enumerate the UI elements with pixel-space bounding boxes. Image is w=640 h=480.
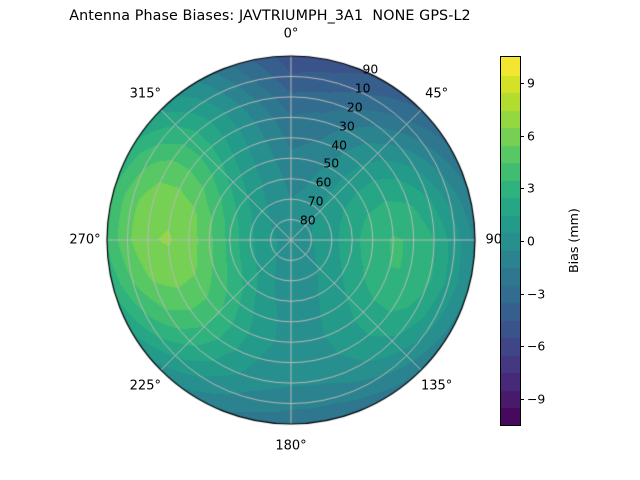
colorbar-tickmark [520, 83, 524, 84]
colorbar-tick-label: −6 [527, 339, 545, 354]
colorbar-tickmark [520, 294, 524, 295]
colorbar-tick-label: 0 [527, 234, 535, 249]
colorbar-frame [500, 56, 521, 426]
colorbar-tick-label: 9 [527, 76, 535, 91]
colorbar-tick-label: 3 [527, 181, 535, 196]
figure-canvas: Antenna Phase Biases: JAVTRIUMPH_3A1 NON… [0, 0, 640, 480]
colorbar-tickmark [520, 188, 524, 189]
colorbar-tickmark [520, 399, 524, 400]
colorbar-tickmark [520, 241, 524, 242]
colorbar-tickmark [520, 346, 524, 347]
colorbar-axis-label: Bias (mm) [566, 208, 581, 273]
colorbar-tickmark [520, 136, 524, 137]
colorbar-tick-label: 6 [527, 128, 535, 143]
colorbar-tick-label: −9 [527, 391, 545, 406]
polar-contour-plot [0, 0, 640, 480]
colorbar-tick-label: −3 [527, 286, 545, 301]
